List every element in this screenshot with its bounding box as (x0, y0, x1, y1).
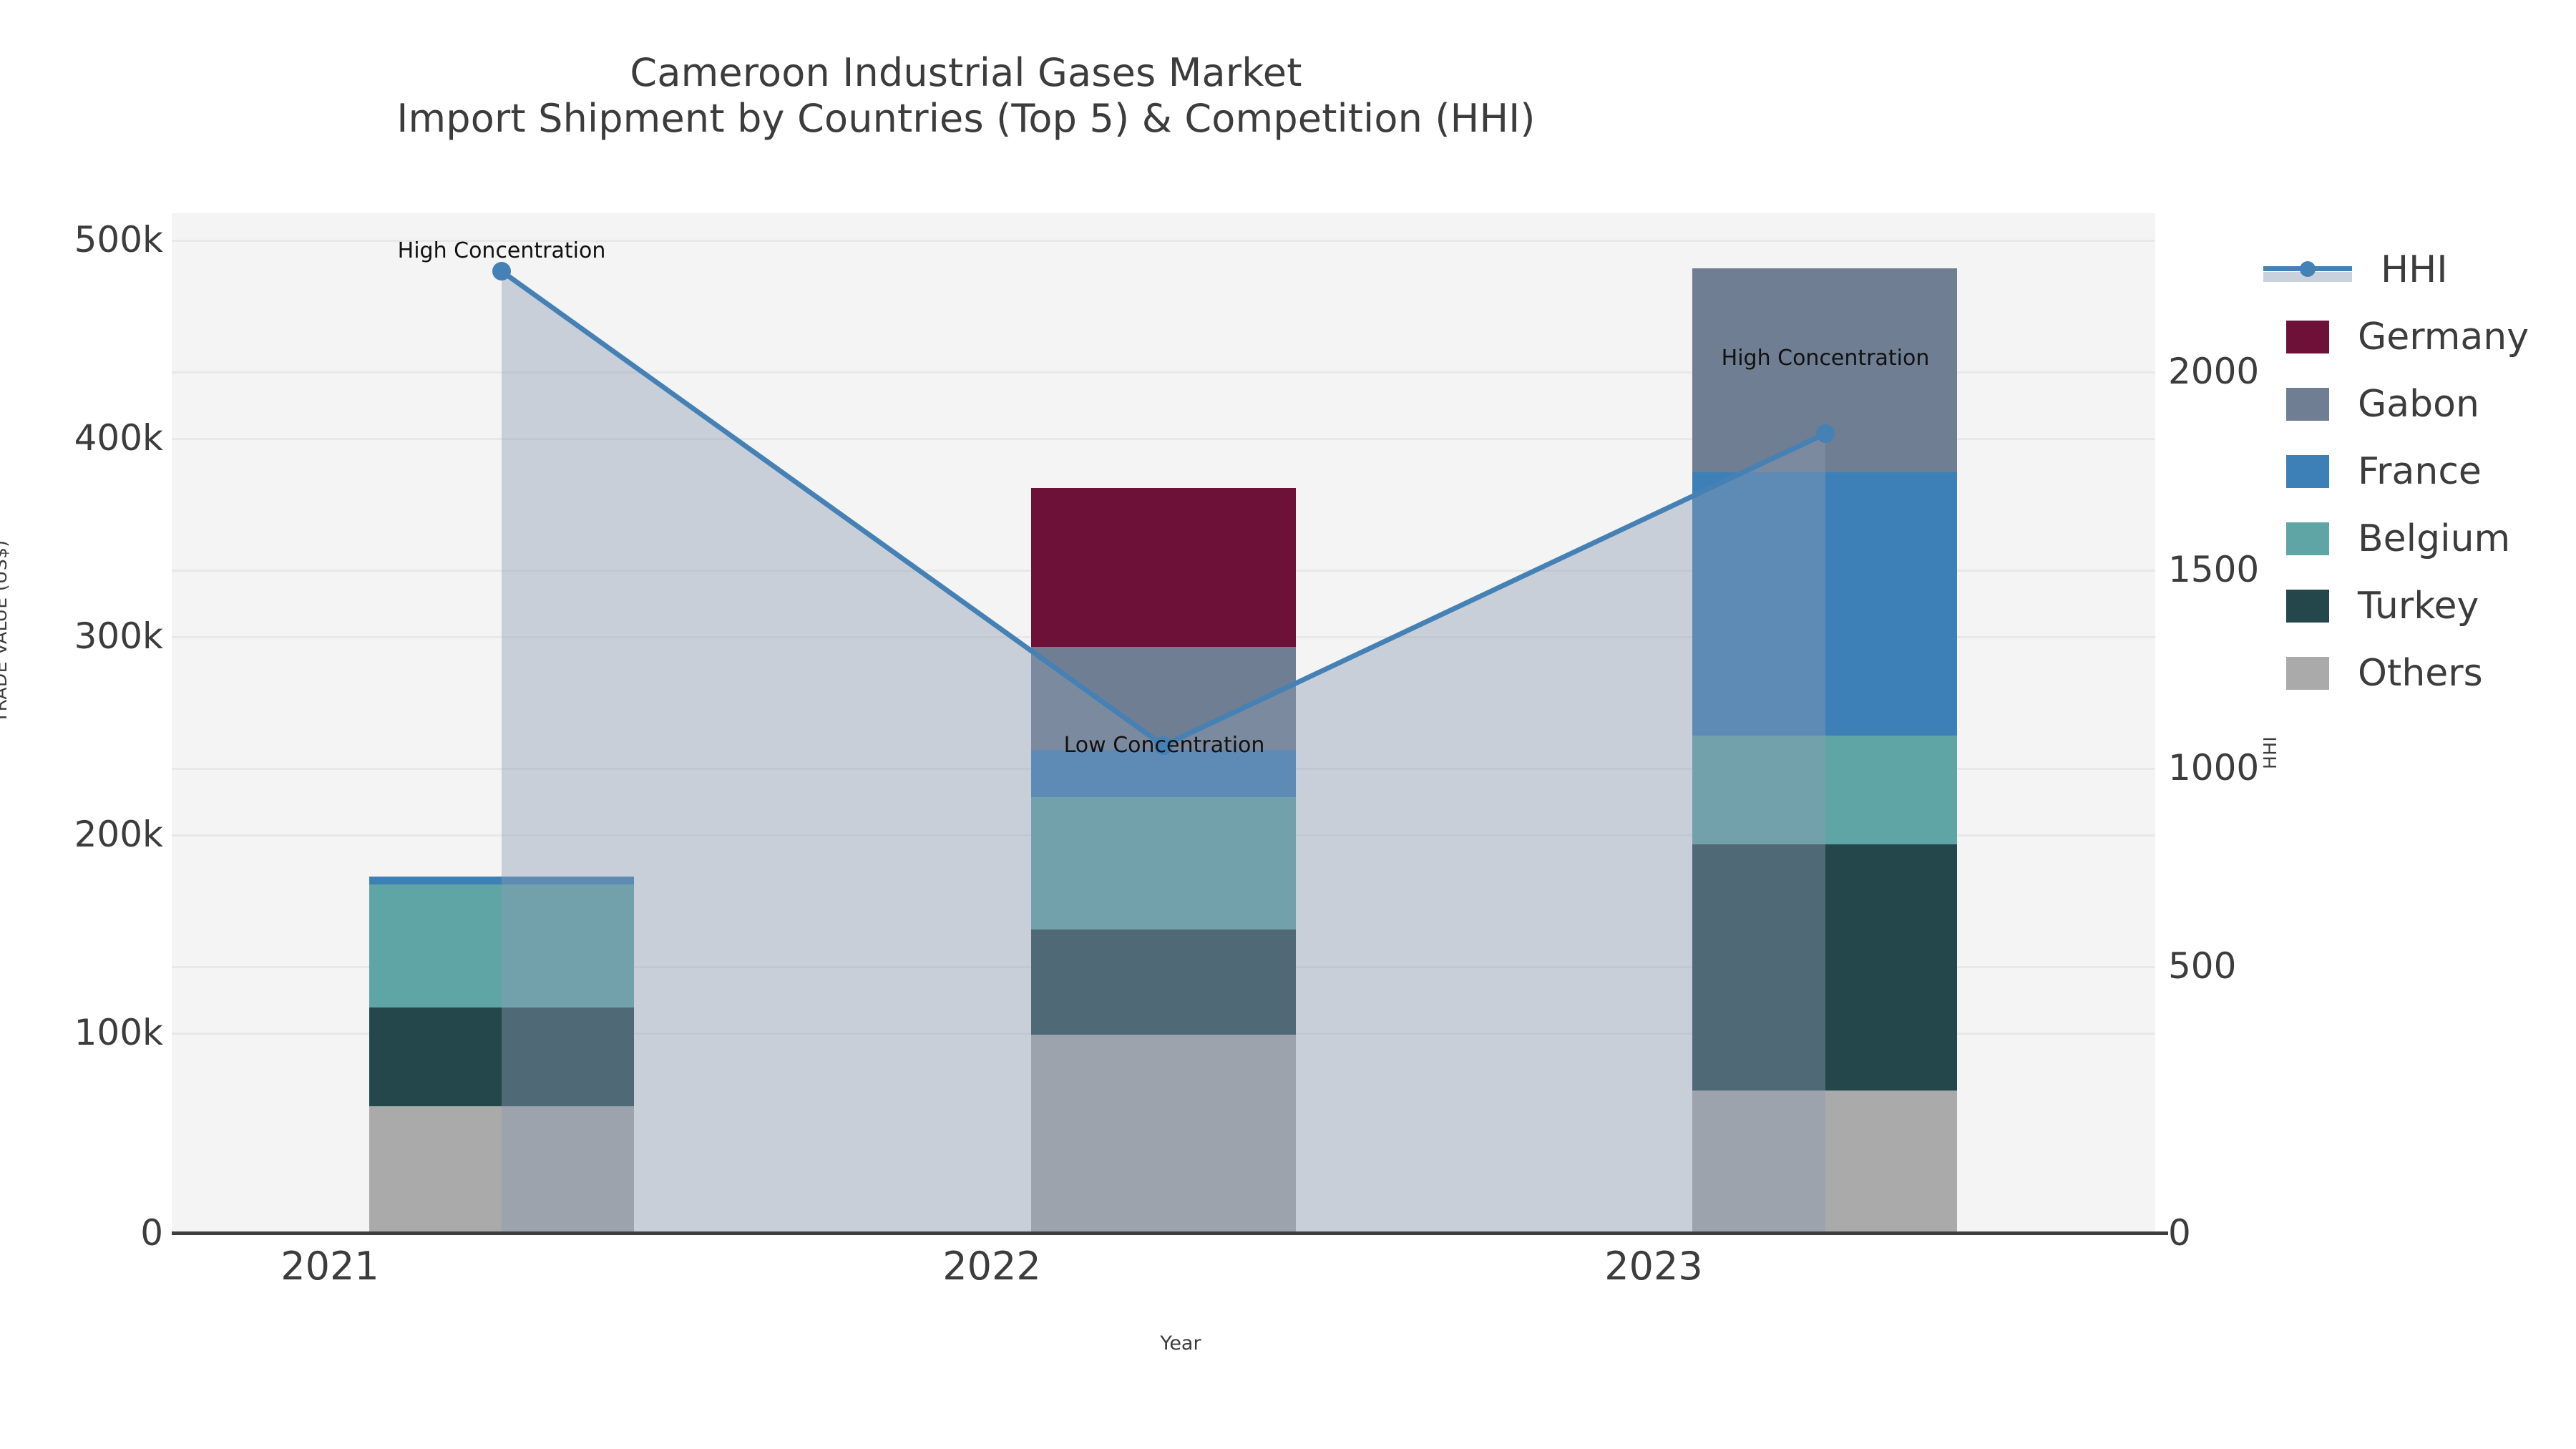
legend-label-germany: Germany (2358, 316, 2529, 358)
legend-item-belgium[interactable]: Belgium (2286, 505, 2529, 572)
chart-title-line-1: Cameroon Industrial Gases Market (0, 50, 1932, 96)
y-tick-left-200k: 200k (0, 816, 163, 852)
legend-item-turkey[interactable]: Turkey (2286, 572, 2529, 640)
legend-item-germany[interactable]: Germany (2286, 303, 2529, 371)
chart-title: Cameroon Industrial Gases Market Import … (0, 50, 1932, 141)
y-tick-left-100k: 100k (0, 1015, 163, 1050)
legend-label-belgium: Belgium (2358, 517, 2510, 560)
legend-item-hhi[interactable]: HHI (2286, 236, 2529, 303)
legend-label-france: France (2358, 450, 2482, 493)
y-tick-left-300k: 300k (0, 618, 163, 654)
annotation-2021: High Concentration (398, 238, 606, 263)
y-tick-right-500: 500 (2168, 948, 2411, 984)
swatch-france-icon (2286, 455, 2329, 488)
chart-title-line-2: Import Shipment by Countries (Top 5) & C… (0, 96, 1932, 142)
y-tick-right-1000: 1000 (2168, 750, 2411, 786)
hhi-point-2021 (492, 262, 511, 280)
hhi-point-2023 (1816, 424, 1835, 443)
x-tick-2021: 2021 (151, 1244, 509, 1289)
swatch-gabon-icon (2286, 388, 2329, 421)
x-tick-2022: 2022 (813, 1244, 1171, 1289)
swatch-belgium-icon (2286, 522, 2329, 555)
swatch-turkey-icon (2286, 590, 2329, 623)
legend-label-others: Others (2358, 652, 2483, 695)
swatch-germany-icon (2286, 321, 2329, 353)
y-tick-right-0: 0 (2168, 1215, 2411, 1251)
legend-item-others[interactable]: Others (2286, 640, 2529, 707)
y-axis-right-label: HHI (2260, 736, 2280, 769)
legend: HHI Germany Gabon France Belgium Turkey … (2286, 236, 2529, 707)
legend-item-gabon[interactable]: Gabon (2286, 371, 2529, 438)
y-axis-left-label: TRADE VALUE (US$) (0, 540, 11, 723)
annotation-2023: High Concentration (1722, 346, 1930, 371)
annotation-2022: Low Concentration (1064, 733, 1265, 758)
legend-label-hhi: HHI (2381, 248, 2448, 291)
y-tick-left-500k: 500k (0, 222, 163, 258)
legend-label-turkey: Turkey (2358, 585, 2479, 628)
legend-label-gabon: Gabon (2358, 383, 2479, 426)
chart-canvas: Cameroon Industrial Gases Market Import … (0, 0, 2576, 1449)
x-tick-2023: 2023 (1475, 1244, 1833, 1289)
x-axis-label: Year (0, 1332, 2361, 1355)
y-tick-left-0: 0 (0, 1215, 163, 1251)
hhi-line-marker-icon (2263, 253, 2352, 286)
y-tick-left-400k: 400k (0, 420, 163, 456)
x-axis-line (172, 1231, 2168, 1235)
swatch-others-icon (2286, 657, 2329, 690)
legend-item-france[interactable]: France (2286, 438, 2529, 505)
